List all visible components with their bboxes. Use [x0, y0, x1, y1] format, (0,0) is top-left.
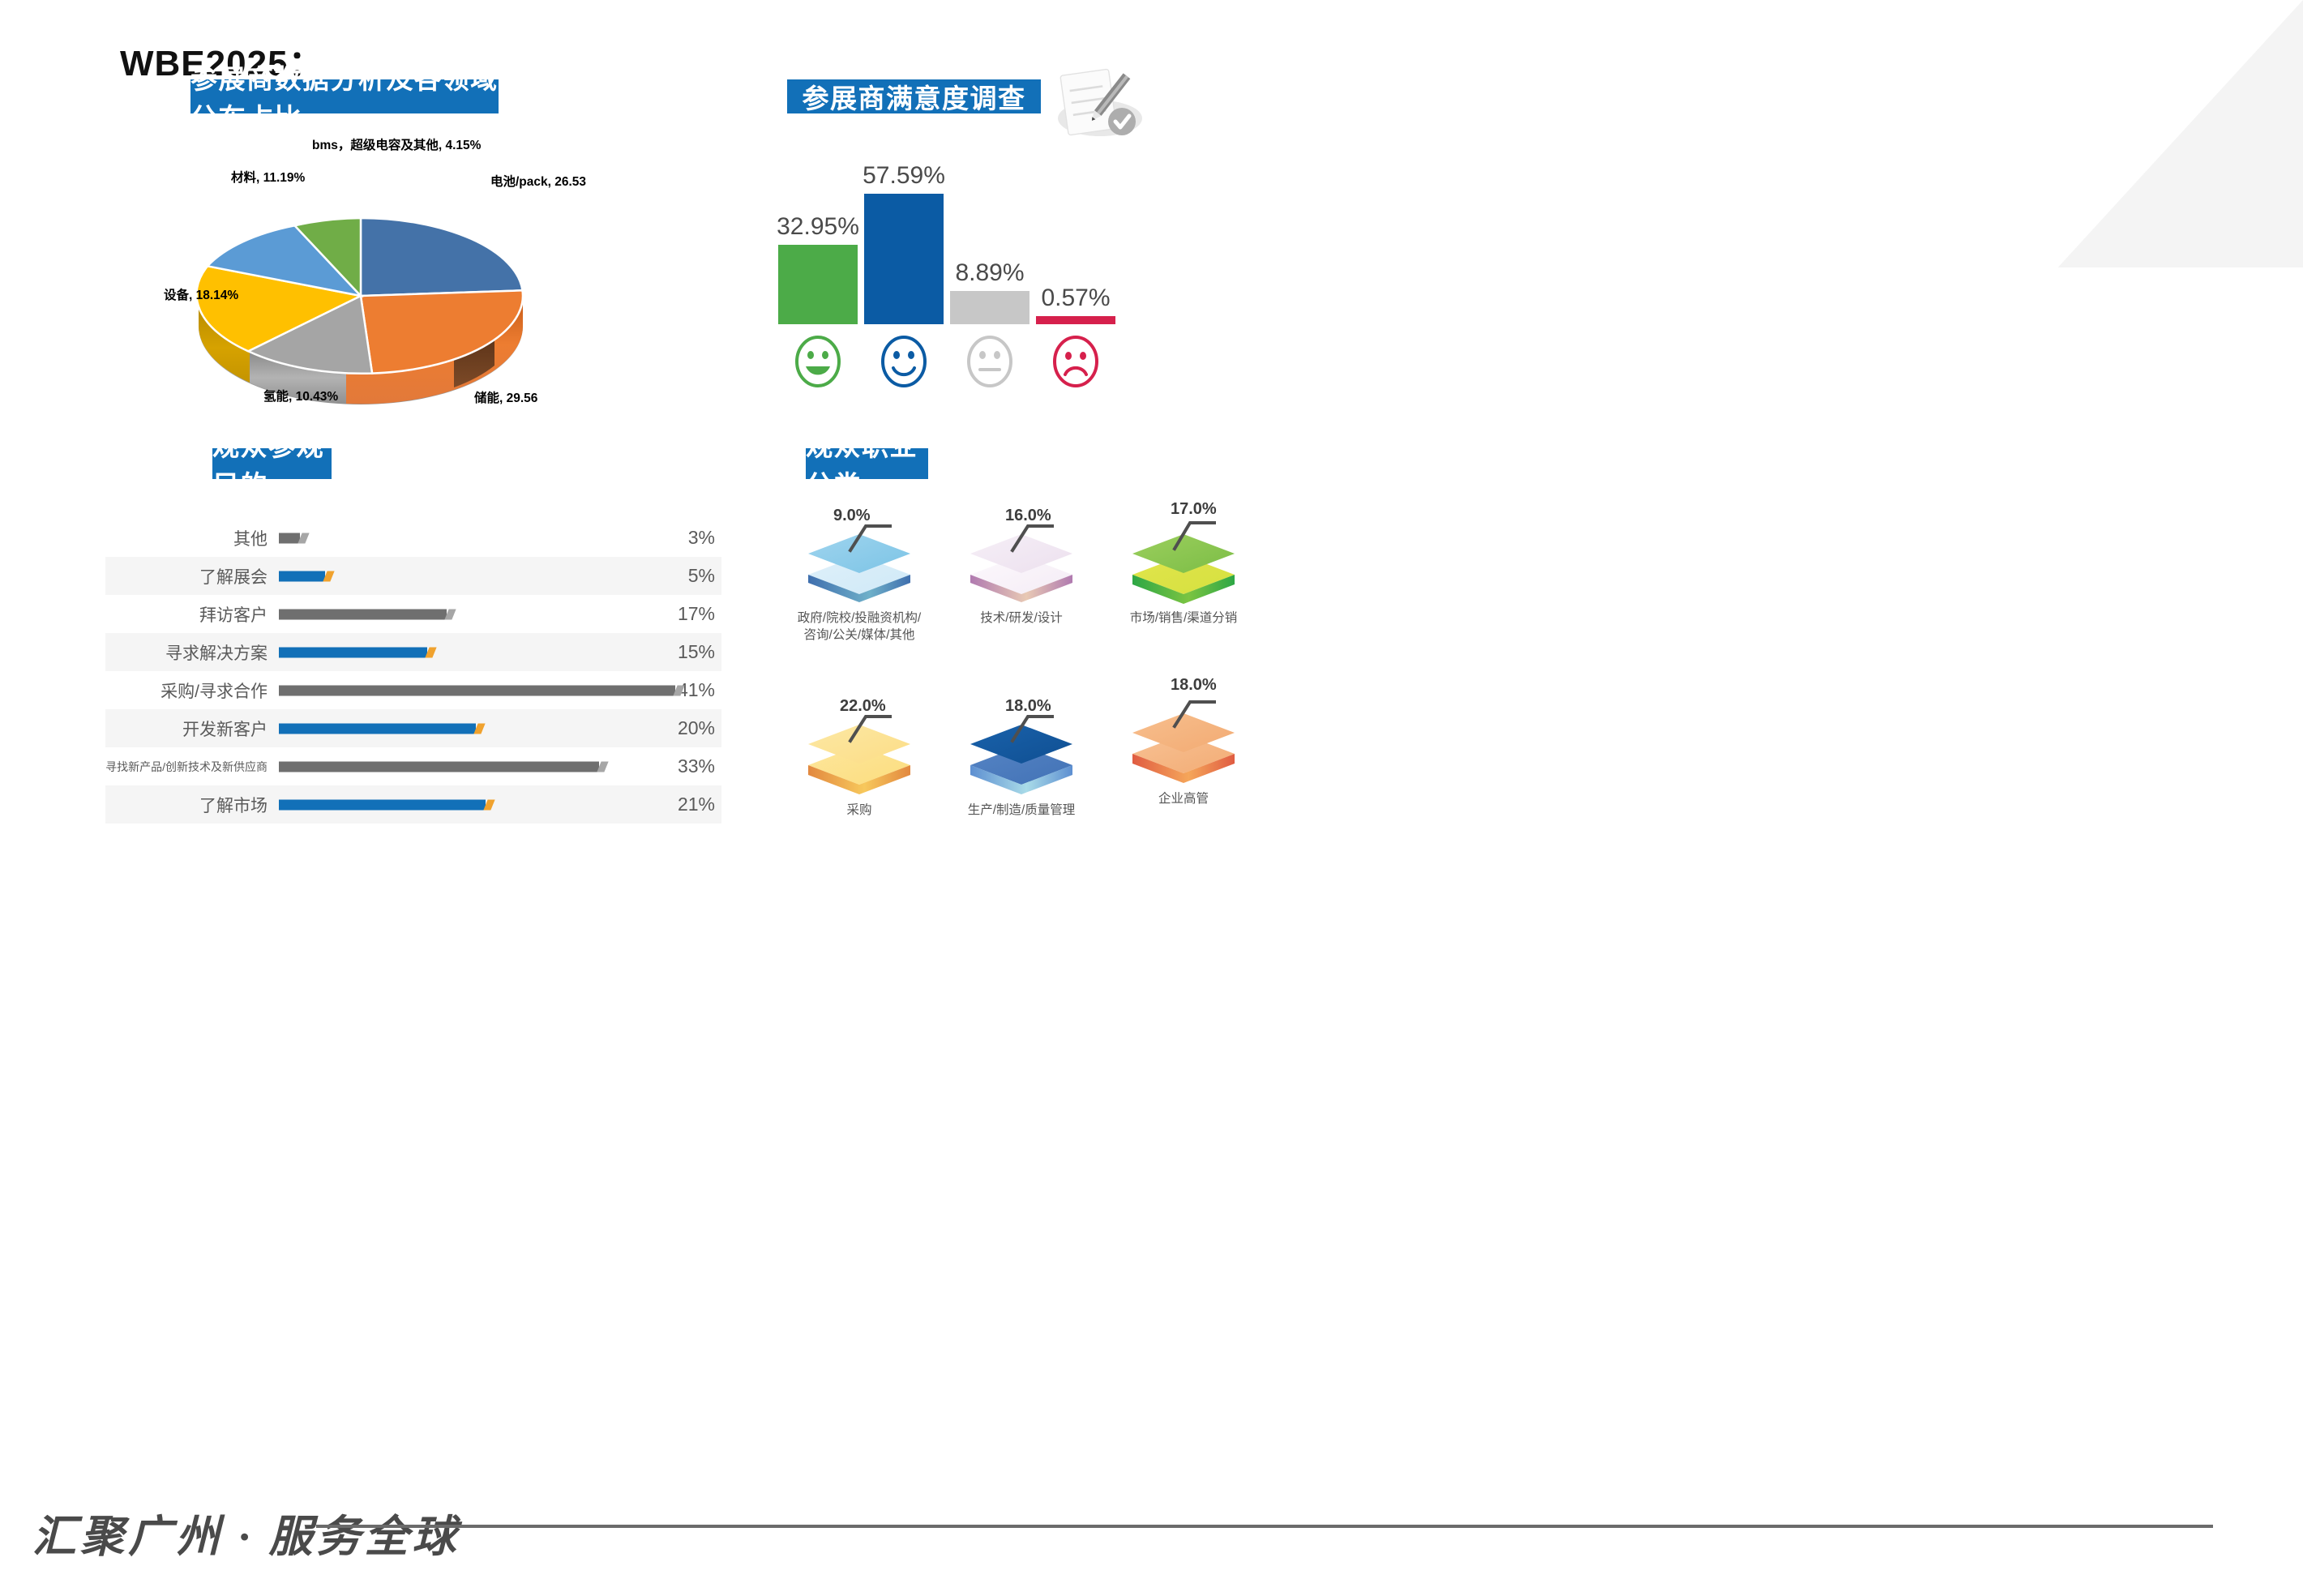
purpose-track-0 [279, 519, 657, 557]
purpose-label-7: 了解市场 [105, 793, 279, 817]
footer: 汇聚广州 · 服务全球 [0, 1474, 2303, 1596]
satisfaction-value-3: 0.57% [1041, 285, 1110, 312]
purpose-label-0: 其他 [105, 526, 279, 550]
purpose-row-1: 了解展会 5% [105, 557, 721, 595]
purpose-bar-2 [279, 609, 447, 619]
purpose-row-3: 寻求解决方案 15% [105, 633, 721, 671]
exhibitor-pie-chart: bms，超级电容及其他, 4.15% 材料, 11.19% 设备, 18.14%… [146, 126, 713, 434]
banner-visitor-occupation: 观众职业分类 [806, 448, 928, 479]
satisfaction-column-very-happy: 32.95% [778, 162, 858, 324]
satisfaction-value-2: 8.89% [955, 259, 1024, 287]
occupation-label-4: 生产/制造/质量管理 [940, 802, 1102, 819]
occupation-card-executive: 18.0% 企业高管 [1102, 697, 1265, 843]
sad-face-icon [1036, 334, 1115, 389]
purpose-value-7: 21% [657, 794, 721, 815]
pie-label-bms: bms，超级电容及其他, 4.15% [312, 138, 474, 153]
purpose-value-2: 17% [657, 603, 721, 625]
purpose-label-2: 拜访客户 [105, 602, 279, 627]
occupation-label-5: 企业高管 [1102, 791, 1265, 808]
occupation-label-0: 政府/院校/投融资机构/ 咨询/公关/媒体/其他 [778, 610, 940, 644]
very-happy-face-icon [778, 334, 858, 389]
purpose-bar-7 [279, 799, 486, 810]
occupation-card-government: 9.0% 政府/院校/投融资机构/ 咨询/公关/媒体/其他 [778, 507, 940, 653]
leader-line-3 [798, 702, 920, 751]
banner-visit-purpose: 观众参观目的 [212, 448, 332, 479]
purpose-label-3: 寻求解决方案 [105, 640, 279, 665]
corner-decoration [2011, 0, 2303, 267]
satisfaction-column-sad: 0.57% [1036, 162, 1115, 324]
satisfaction-value-1: 57.59% [863, 162, 945, 190]
satisfaction-bar-1 [864, 194, 944, 324]
purpose-bar-6 [279, 761, 599, 772]
satisfaction-value-0: 32.95% [777, 213, 859, 241]
occupation-label-1: 技术/研发/设计 [940, 610, 1102, 627]
purpose-track-6 [279, 747, 657, 785]
pie-label-material: 材料, 11.19% [231, 170, 305, 186]
purpose-row-5: 开发新客户 20% [105, 709, 721, 747]
pie-label-storage: 储能, 29.56 [474, 391, 537, 406]
neutral-face-icon [950, 334, 1030, 389]
purpose-value-5: 20% [657, 717, 721, 739]
satisfaction-bar-0 [778, 245, 858, 324]
leader-line-5 [1123, 687, 1244, 736]
purpose-bar-0 [279, 533, 300, 543]
purpose-track-3 [279, 633, 657, 671]
purpose-value-3: 15% [657, 641, 721, 663]
purpose-bar-3 [279, 647, 427, 657]
satisfaction-bar-3 [1036, 316, 1115, 324]
leader-line-0 [798, 511, 920, 560]
purpose-value-1: 5% [657, 565, 721, 587]
footer-slogan: 汇聚广州 · 服务全球 [32, 1500, 460, 1564]
purpose-row-0: 其他 3% [105, 519, 721, 557]
purpose-label-1: 了解展会 [105, 564, 279, 588]
satisfaction-bar-2 [950, 291, 1030, 324]
leader-line-4 [961, 702, 1082, 751]
purpose-row-4: 采购/寻求合作 41% [105, 671, 721, 709]
purpose-track-1 [279, 557, 657, 595]
purpose-track-7 [279, 785, 657, 824]
pie-label-equipment: 设备, 18.14% [164, 288, 238, 303]
satisfaction-column-neutral: 8.89% [950, 162, 1030, 324]
banner-satisfaction-survey: 参展商满意度调查 [787, 79, 1041, 113]
pie-label-battery: 电池/pack, 26.53 [490, 174, 586, 190]
purpose-track-5 [279, 709, 657, 747]
leader-line-2 [1123, 510, 1244, 558]
purpose-label-6: 寻找新产品/创新技术及新供应商 [105, 759, 279, 775]
purpose-bar-5 [279, 723, 476, 734]
purpose-row-2: 拜访客户 17% [105, 595, 721, 633]
purpose-row-6: 寻找新产品/创新技术及新供应商 33% [105, 747, 721, 785]
purpose-track-2 [279, 595, 657, 633]
banner-exhibitor-analysis: 参展商数据分析及各领域分布占比 [190, 79, 499, 113]
purpose-label-5: 开发新客户 [105, 717, 279, 741]
occupation-card-tech: 16.0% 技术/研发/设计 [940, 507, 1102, 653]
occupation-row-top: 9.0% 政府/院校/投融资机构/ 咨询/公关/媒体/其他 [778, 507, 1492, 653]
satisfaction-bars: 32.95% 57.59% 8.89% 0.57% [778, 162, 1143, 324]
leader-line-1 [961, 511, 1082, 560]
visit-purpose-chart: 其他 3% 了解展会 5% 拜访客户 17% 寻求解决方案 15% 采购/寻求合… [105, 519, 721, 824]
occupation-label-3: 采购 [778, 802, 940, 819]
visitor-occupation-chart: 9.0% 政府/院校/投融资机构/ 咨询/公关/媒体/其他 [778, 507, 1492, 843]
pie-label-hydrogen: 氢能, 10.43% [263, 389, 338, 404]
occupation-card-production: 18.0% 生产/制造/质量管理 [940, 697, 1102, 843]
purpose-value-6: 33% [657, 755, 721, 777]
purpose-label-4: 采购/寻求合作 [105, 678, 279, 703]
footer-divider [316, 1525, 2213, 1528]
purpose-value-0: 3% [657, 527, 721, 549]
satisfaction-column-happy: 57.59% [864, 162, 944, 324]
purpose-row-7: 了解市场 21% [105, 785, 721, 824]
purpose-track-4 [279, 671, 657, 709]
occupation-row-bottom: 22.0% 采购 18.0% [778, 697, 1492, 843]
satisfaction-bar-chart: 32.95% 57.59% 8.89% 0.57% [778, 130, 1143, 397]
purpose-bar-4 [279, 685, 675, 695]
satisfaction-face-row [778, 334, 1143, 389]
happy-face-icon [864, 334, 944, 389]
occupation-card-marketing: 17.0% 市场/销售/渠道分销 [1102, 507, 1265, 653]
occupation-card-purchasing: 22.0% 采购 [778, 697, 940, 843]
purpose-bar-1 [279, 571, 325, 581]
occupation-label-2: 市场/销售/渠道分销 [1102, 610, 1265, 627]
